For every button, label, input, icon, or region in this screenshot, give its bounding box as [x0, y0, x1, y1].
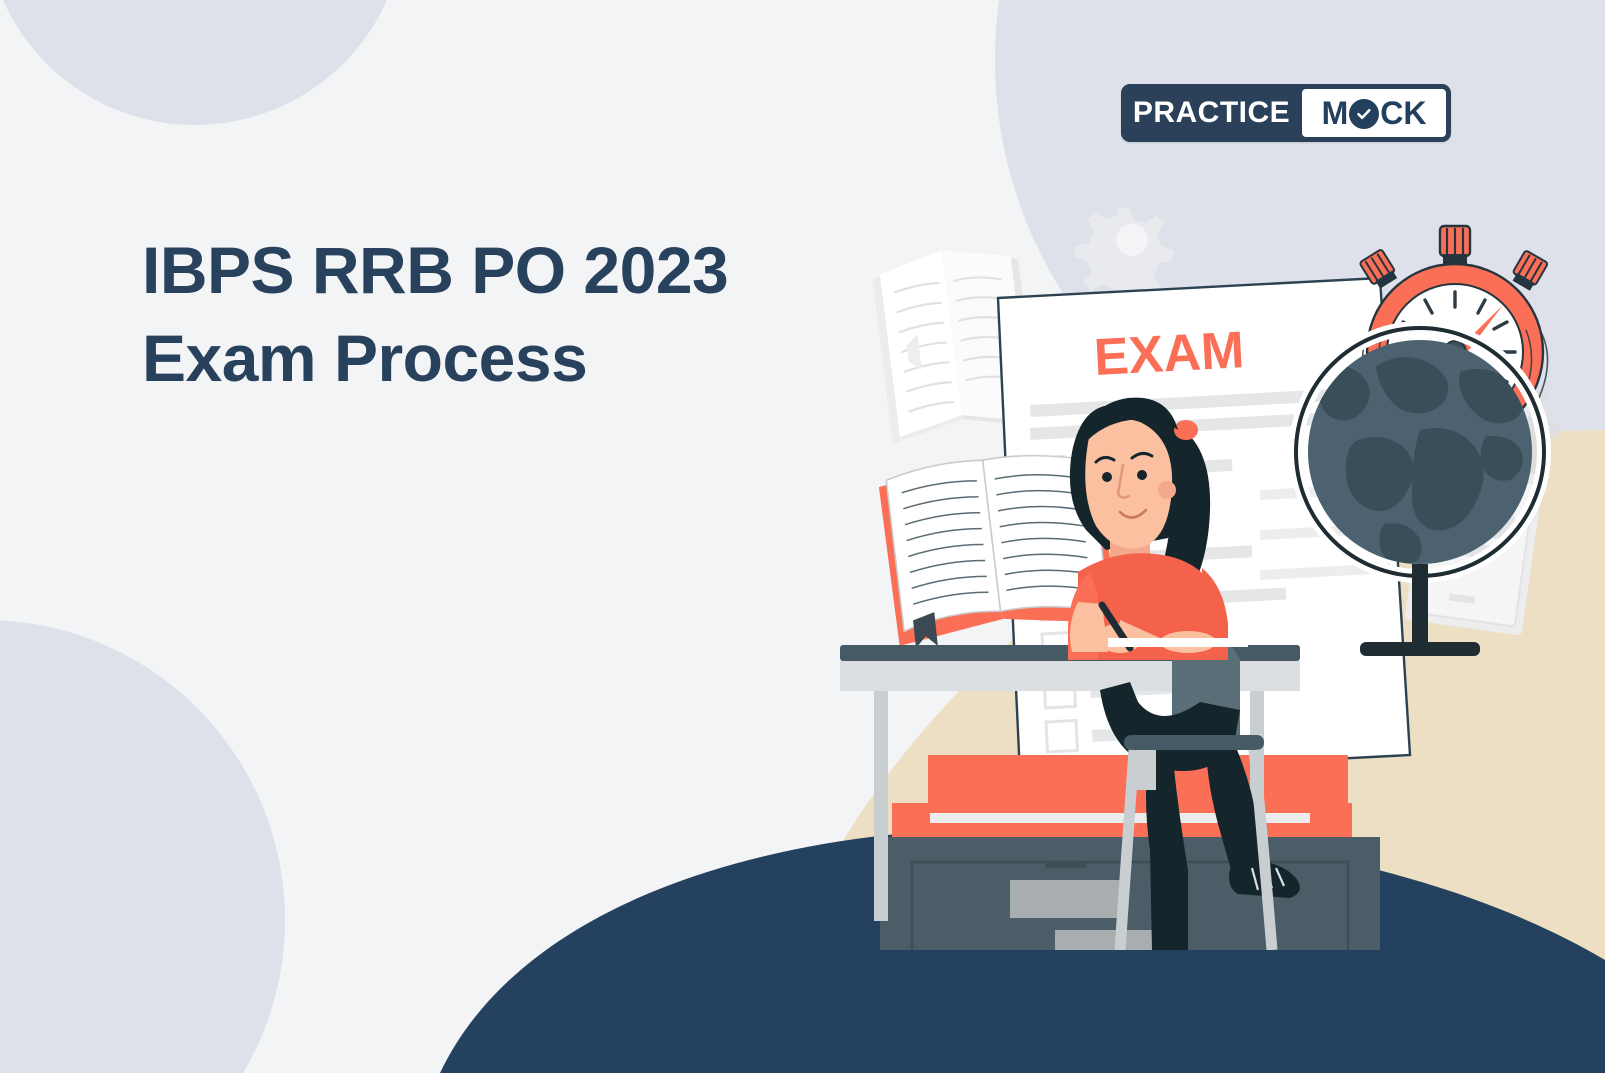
student-taking-exam-illustration: EXAM — [820, 190, 1605, 950]
logo-mock-box: M CK — [1302, 89, 1446, 137]
logo-mock-text: M CK — [1322, 95, 1427, 132]
brand-logo[interactable]: PRACTICE M CK — [1121, 84, 1451, 142]
page-title-line-2: Exam Process — [142, 314, 902, 402]
logo-mock-ck: CK — [1380, 95, 1426, 132]
logo-practice-text: PRACTICE — [1121, 84, 1302, 142]
exam-paper-title: EXAM — [1093, 321, 1246, 387]
logo-mock-m: M — [1322, 95, 1349, 132]
poster-canvas: EXAM — [0, 0, 1605, 1073]
page-title-line-1: IBPS RRB PO 2023 — [142, 226, 902, 314]
stacked-books — [892, 755, 1352, 841]
page-title: IBPS RRB PO 2023 Exam Process — [142, 226, 902, 403]
check-icon — [1349, 99, 1379, 129]
